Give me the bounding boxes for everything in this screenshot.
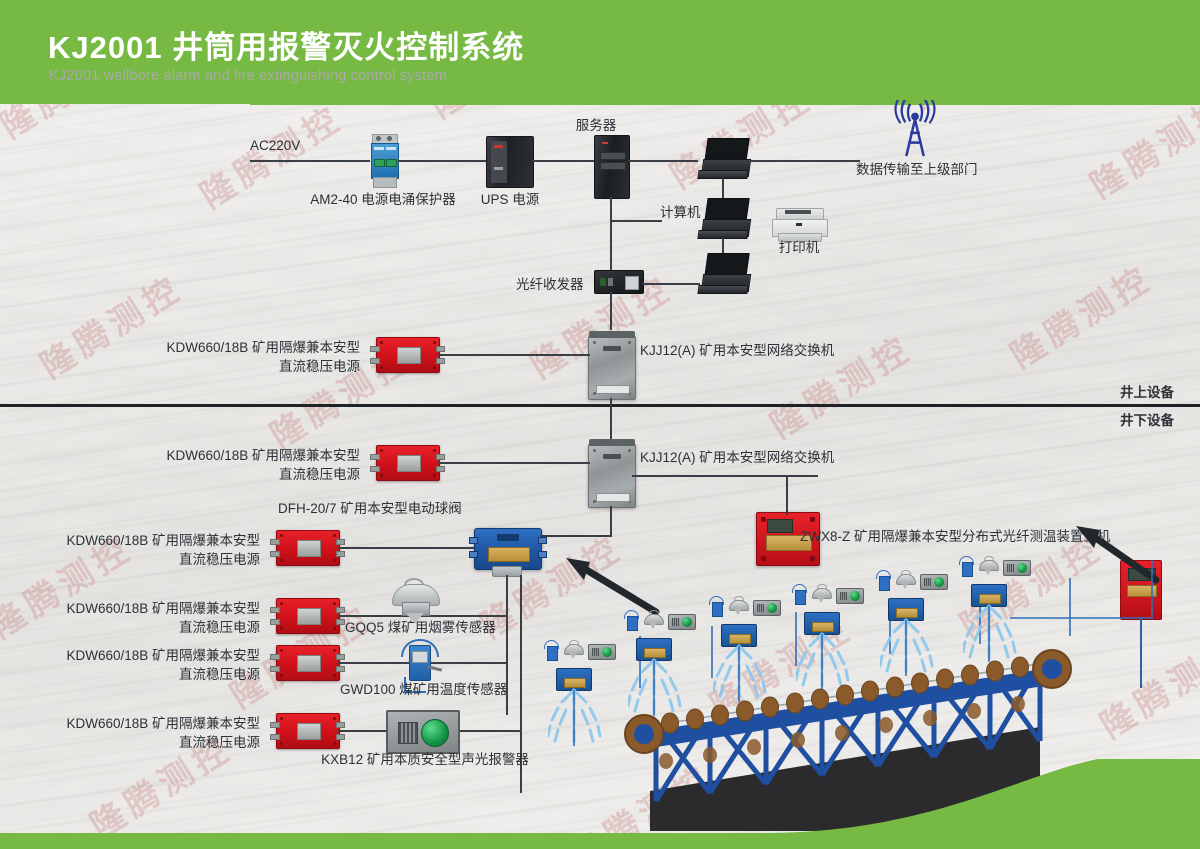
valve-port bbox=[538, 537, 547, 544]
radio-tower-icon bbox=[880, 100, 950, 160]
power-supply-label-line1: KDW660/18B 矿用隔爆兼本安型 bbox=[160, 338, 360, 357]
line-fiber-to-computer-3 bbox=[642, 283, 700, 285]
power-supply-device bbox=[276, 645, 340, 681]
line-power-to-switch-surface bbox=[438, 354, 590, 356]
server-drive-bay bbox=[600, 152, 626, 160]
power-supply-label-line2: 直流稳压电源 bbox=[160, 465, 360, 484]
computer-device bbox=[698, 253, 750, 297]
line-bus-to-computer-2 bbox=[610, 220, 662, 222]
spray-nozzle-icon bbox=[548, 686, 604, 748]
field-cluster bbox=[540, 640, 636, 760]
cluster-smoke-sensor bbox=[896, 570, 914, 592]
line-fiber-to-switch bbox=[610, 292, 612, 330]
power-supply-device bbox=[376, 445, 440, 481]
cluster-temp-sensor bbox=[959, 556, 972, 576]
ball-valve-device bbox=[474, 528, 542, 570]
switch-top-cap bbox=[589, 439, 635, 446]
switch-nameplate bbox=[596, 385, 630, 394]
ups-label: UPS 电源 bbox=[466, 190, 554, 209]
server-label: 服务器 bbox=[556, 116, 636, 135]
computer-device bbox=[698, 198, 750, 242]
spd-screw-hole bbox=[387, 136, 392, 141]
server-device bbox=[594, 135, 630, 199]
spd-marking bbox=[386, 147, 396, 150]
printer-label: 打印机 bbox=[760, 238, 838, 257]
page-title: KJ2001 井筒用报警灭火控制系统 bbox=[48, 22, 524, 67]
alarm-speaker-grille bbox=[398, 722, 418, 744]
ball-valve-label: DFH-20/7 矿用本安型电动球阀 bbox=[278, 499, 462, 518]
rj45-port bbox=[625, 276, 639, 290]
computer-label: 计算机 bbox=[660, 203, 701, 222]
power-supply-device bbox=[276, 530, 340, 566]
switch-top-cap bbox=[589, 331, 635, 338]
page-header: KJ2001 井筒用报警灭火控制系统 KJ2001 wellbore alarm… bbox=[0, 0, 1200, 104]
printer-button bbox=[796, 223, 802, 226]
fiber-converter-label: 光纤收发器 bbox=[516, 275, 584, 294]
power-supply-device bbox=[276, 598, 340, 634]
line-switch-down bbox=[610, 506, 612, 536]
power-supply-port bbox=[436, 346, 445, 352]
line-to-antenna bbox=[750, 160, 860, 162]
ac-power-label: AC220V bbox=[250, 136, 300, 155]
power-supply-label-line1: KDW660/18B 矿用隔爆兼本安型 bbox=[60, 531, 260, 550]
temp-sensor-display bbox=[412, 651, 428, 663]
network-switch-surface-label: KJJ12(A) 矿用本安型网络交换机 bbox=[640, 341, 834, 360]
power-supply-label-line1: KDW660/18B 矿用隔爆兼本安型 bbox=[60, 646, 260, 665]
smoke-sensor-label: GQQ5 煤矿用烟雾传感器 bbox=[345, 618, 485, 637]
switch-vent bbox=[603, 346, 621, 351]
spd-din-foot bbox=[373, 177, 397, 188]
power-supply-label-line1: KDW660/18B 矿用隔爆兼本安型 bbox=[160, 446, 360, 465]
cluster-alarm bbox=[1003, 560, 1031, 576]
spd-marking bbox=[374, 147, 384, 150]
cluster-temp-sensor bbox=[544, 640, 557, 660]
temperature-sensor-label: GWD100 煤矿用温度传感器 bbox=[340, 680, 500, 699]
line-power-to-valve bbox=[338, 547, 476, 549]
line-spd-to-ups bbox=[398, 160, 486, 162]
cluster-smoke-sensor bbox=[564, 640, 582, 662]
power-supply-label-line2: 直流稳压电源 bbox=[60, 665, 260, 684]
valve-nameplate bbox=[488, 547, 530, 562]
valve-port bbox=[469, 537, 478, 544]
line-alarm-to-trunk bbox=[454, 730, 522, 732]
spd-status-window bbox=[386, 159, 397, 167]
power-supply-display bbox=[397, 455, 421, 472]
spd-body bbox=[371, 143, 399, 179]
power-supply-device bbox=[276, 713, 340, 749]
power-supply-port bbox=[436, 358, 445, 364]
page-subtitle: KJ2001 wellbore alarm and fire extinguis… bbox=[49, 68, 447, 84]
fiber-host-display bbox=[767, 519, 793, 533]
switch-screw bbox=[593, 341, 596, 344]
cluster-alarm bbox=[920, 574, 948, 590]
below-ground-label: 井下设备 bbox=[1120, 411, 1174, 430]
cluster-temp-sensor bbox=[876, 570, 889, 590]
fiber-sfp-port bbox=[608, 278, 613, 286]
conveyor-pulley-hub bbox=[634, 724, 654, 744]
line-ac-to-spd bbox=[250, 160, 370, 162]
network-switch-underground-label: KJJ12(A) 矿用本安型网络交换机 bbox=[640, 448, 834, 467]
line-power-to-switch-underground bbox=[438, 462, 590, 464]
power-supply-display bbox=[297, 608, 321, 625]
line-switch-to-valve bbox=[540, 535, 612, 537]
switch-nameplate bbox=[596, 493, 630, 502]
network-switch-underground bbox=[588, 444, 636, 508]
line-server-to-computer-1 bbox=[628, 160, 698, 162]
surge-protector-label: AM2-40 电源电涌保护器 bbox=[308, 190, 458, 209]
computer-device bbox=[698, 138, 750, 182]
conveyor-pulley-hub bbox=[1042, 659, 1062, 679]
line-power-to-alarm bbox=[338, 730, 386, 732]
ups-indicator-led bbox=[494, 145, 503, 148]
valve-port bbox=[538, 551, 547, 558]
switch-vent bbox=[603, 454, 621, 459]
cluster-alarm bbox=[588, 644, 616, 660]
switch-screw bbox=[628, 341, 631, 344]
cluster-smoke-sensor bbox=[979, 556, 997, 578]
power-supply-display bbox=[297, 655, 321, 672]
ground-level-divider bbox=[0, 404, 1200, 407]
power-supply-label-line2: 直流稳压电源 bbox=[60, 550, 260, 569]
power-supply-display bbox=[297, 540, 321, 557]
computer-keyboard bbox=[697, 285, 748, 294]
valve-port bbox=[469, 551, 478, 558]
spd-screw-hole bbox=[376, 136, 381, 141]
power-supply-port bbox=[370, 346, 380, 352]
surge-protector-device bbox=[370, 134, 398, 188]
audible-alarm-device bbox=[386, 710, 460, 754]
fiber-converter-device bbox=[594, 270, 644, 294]
power-supply-label-line2: 直流稳压电源 bbox=[160, 357, 360, 376]
power-supply-label-line1: KDW660/18B 矿用隔爆兼本安型 bbox=[60, 714, 260, 733]
diagram-page: 隆腾测控 隆腾测控 隆腾测控 隆腾测控 隆腾测控 隆腾测控 隆腾测控 隆腾测控 … bbox=[0, 0, 1200, 849]
server-drive-bay bbox=[600, 162, 626, 170]
printer-paper-slot bbox=[785, 210, 811, 214]
server-power-led bbox=[602, 142, 608, 144]
spd-status-window bbox=[374, 159, 385, 167]
power-supply-display bbox=[397, 347, 421, 364]
power-supply-label-line1: KDW660/18B 矿用隔爆兼本安型 bbox=[60, 599, 260, 618]
uplink-label: 数据传输至上级部门 bbox=[856, 160, 978, 179]
power-supply-display bbox=[297, 723, 321, 740]
power-supply-label-line2: 直流稳压电源 bbox=[60, 618, 260, 637]
power-supply-label-line2: 直流稳压电源 bbox=[60, 733, 260, 752]
fiber-sfp-port bbox=[600, 278, 606, 286]
network-switch-surface bbox=[588, 336, 636, 400]
ups-device bbox=[486, 136, 534, 188]
line-fiber-host-up bbox=[786, 475, 788, 515]
line-switch-to-fiber-host bbox=[632, 475, 818, 477]
power-supply-device bbox=[376, 337, 440, 373]
header-accent-line bbox=[250, 102, 1200, 105]
above-ground-label: 井上设备 bbox=[1120, 383, 1174, 402]
ups-power-button bbox=[494, 167, 503, 170]
footer-curve-shape bbox=[0, 759, 1200, 849]
valve-actuator-cap bbox=[497, 534, 519, 541]
power-supply-port bbox=[370, 358, 380, 364]
alarm-indicator-lamp bbox=[421, 719, 449, 747]
line-ups-to-server bbox=[532, 160, 594, 162]
